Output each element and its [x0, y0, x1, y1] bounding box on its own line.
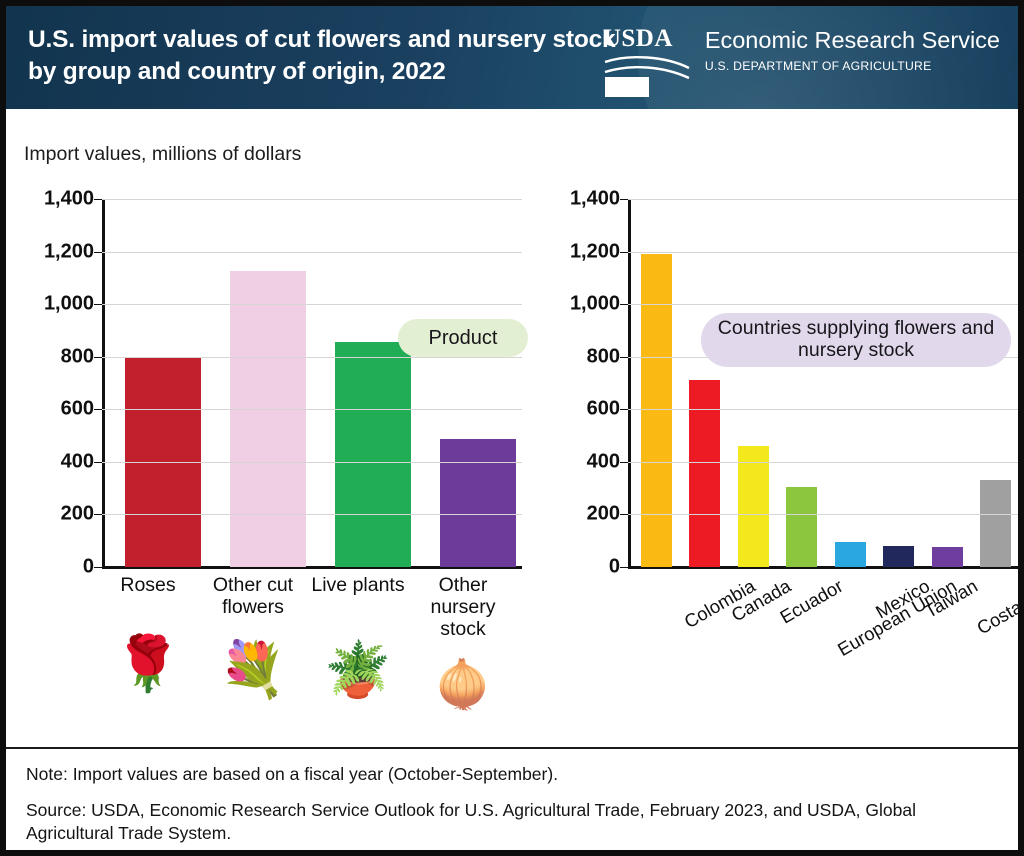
y-axis-tick-label: 400 [61, 450, 94, 473]
y-axis-tick-label: 800 [61, 345, 94, 368]
y-axis-tick [94, 199, 102, 200]
figure-footer: Note: Import values are based on a fisca… [6, 747, 1018, 850]
product-chart-panel: 02004006008001,0001,2001,400 Roses🌹Other… [6, 109, 546, 747]
countries-y-axis-labels: 02004006008001,0001,2001,400 [518, 199, 620, 567]
y-axis-tick-label: 1,400 [44, 188, 94, 211]
bar-colombia [641, 254, 672, 567]
usda-ers-branding: USDA Economic Research Service U.S. DEPA… [603, 26, 1000, 98]
ers-title: Economic Research Service [705, 28, 1000, 53]
chart-body: Import values, millions of dollars 02004… [6, 109, 1018, 747]
figure-header: U.S. import values of cut flowers and nu… [6, 6, 1018, 109]
y-axis-tick-label: 800 [587, 345, 620, 368]
y-axis-tick-label: 600 [587, 398, 620, 421]
y-axis-tick [620, 357, 628, 358]
y-axis-tick [94, 304, 102, 305]
chart-figure: U.S. import values of cut flowers and nu… [0, 0, 1024, 856]
country-label-european-union: European Union [834, 575, 961, 661]
y-axis-tick-label: 0 [83, 556, 94, 579]
gridline [102, 252, 522, 253]
gridline [102, 304, 522, 305]
product-legend-pill: Product [398, 319, 528, 357]
product-category-label: Roses [98, 575, 198, 597]
y-axis-tick [620, 252, 628, 253]
bar-costa-rica [932, 547, 963, 567]
gridline [102, 409, 522, 410]
y-axis-tick [620, 462, 628, 463]
bar-live-plants [335, 342, 411, 567]
gridline [628, 462, 1018, 463]
y-axis-tick [94, 567, 102, 568]
y-axis-tick-label: 200 [61, 503, 94, 526]
bar-european-union [786, 487, 817, 567]
y-axis-tick [94, 462, 102, 463]
gridline [102, 199, 522, 200]
country-label-costa-rica: Costa Rica [973, 575, 1024, 639]
footer-note: Note: Import values are based on a fisca… [26, 763, 998, 786]
y-axis-tick-label: 400 [587, 450, 620, 473]
bar-other-cut-flowers [230, 271, 306, 567]
product-y-axis-labels: 02004006008001,0001,2001,400 [6, 199, 94, 567]
y-axis-tick-label: 200 [587, 503, 620, 526]
y-axis-tick [620, 199, 628, 200]
countries-legend-pill: Countries supplying flowers and nursery … [701, 313, 1011, 367]
gridline [628, 514, 1018, 515]
countries-chart-panel: 02004006008001,0001,2001,400 ColombiaCan… [518, 109, 1024, 747]
potted-plant-icon: 🪴 [308, 643, 408, 697]
product-plot-area [102, 199, 522, 567]
gridline [628, 304, 1018, 305]
y-axis-tick-label: 600 [61, 398, 94, 421]
rose-icon: 🌹 [98, 637, 198, 691]
y-axis-tick-label: 1,400 [570, 188, 620, 211]
ers-department: U.S. DEPARTMENT OF AGRICULTURE [705, 59, 1000, 73]
gridline [102, 514, 522, 515]
y-axis-tick [94, 357, 102, 358]
usda-logo: USDA [603, 26, 691, 98]
y-axis-tick [94, 252, 102, 253]
product-category-label: Other nursery stock [413, 575, 513, 640]
bouquet-icon: 💐 [203, 643, 303, 697]
y-axis-tick-label: 1,200 [44, 240, 94, 263]
y-axis-tick [94, 514, 102, 515]
product-category-label: Other cut flowers [203, 575, 303, 619]
y-axis-tick-label: 1,000 [570, 293, 620, 316]
usda-wordmark: USDA [603, 26, 691, 51]
bulbs-icon: 🧅 [413, 661, 513, 707]
y-axis-tick-label: 0 [609, 556, 620, 579]
y-axis-tick [620, 514, 628, 515]
y-axis-tick [620, 409, 628, 410]
y-axis-tick [94, 409, 102, 410]
y-axis-tick [620, 567, 628, 568]
ers-brand-text: Economic Research Service U.S. DEPARTMEN… [705, 26, 1000, 73]
countries-plot-area [628, 199, 1018, 567]
countries-bars [628, 199, 1018, 567]
gridline [628, 199, 1018, 200]
bar-taiwan [883, 546, 914, 567]
bar-mexico [835, 542, 866, 567]
bar-all-other-countries [980, 480, 1011, 567]
usda-swoosh-icon [603, 52, 691, 98]
footer-source: Source: USDA, Economic Research Service … [26, 799, 998, 845]
page-title: U.S. import values of cut flowers and nu… [28, 24, 628, 88]
y-axis-tick-label: 1,200 [570, 240, 620, 263]
y-axis-tick-label: 1,000 [44, 293, 94, 316]
gridline [628, 409, 1018, 410]
gridline [102, 462, 522, 463]
bar-ecuador [738, 446, 769, 567]
bar-other-nursery-stock [440, 439, 516, 567]
gridline [628, 252, 1018, 253]
y-axis-tick [620, 304, 628, 305]
product-bars [102, 199, 522, 567]
product-category-label: Live plants [308, 575, 408, 597]
